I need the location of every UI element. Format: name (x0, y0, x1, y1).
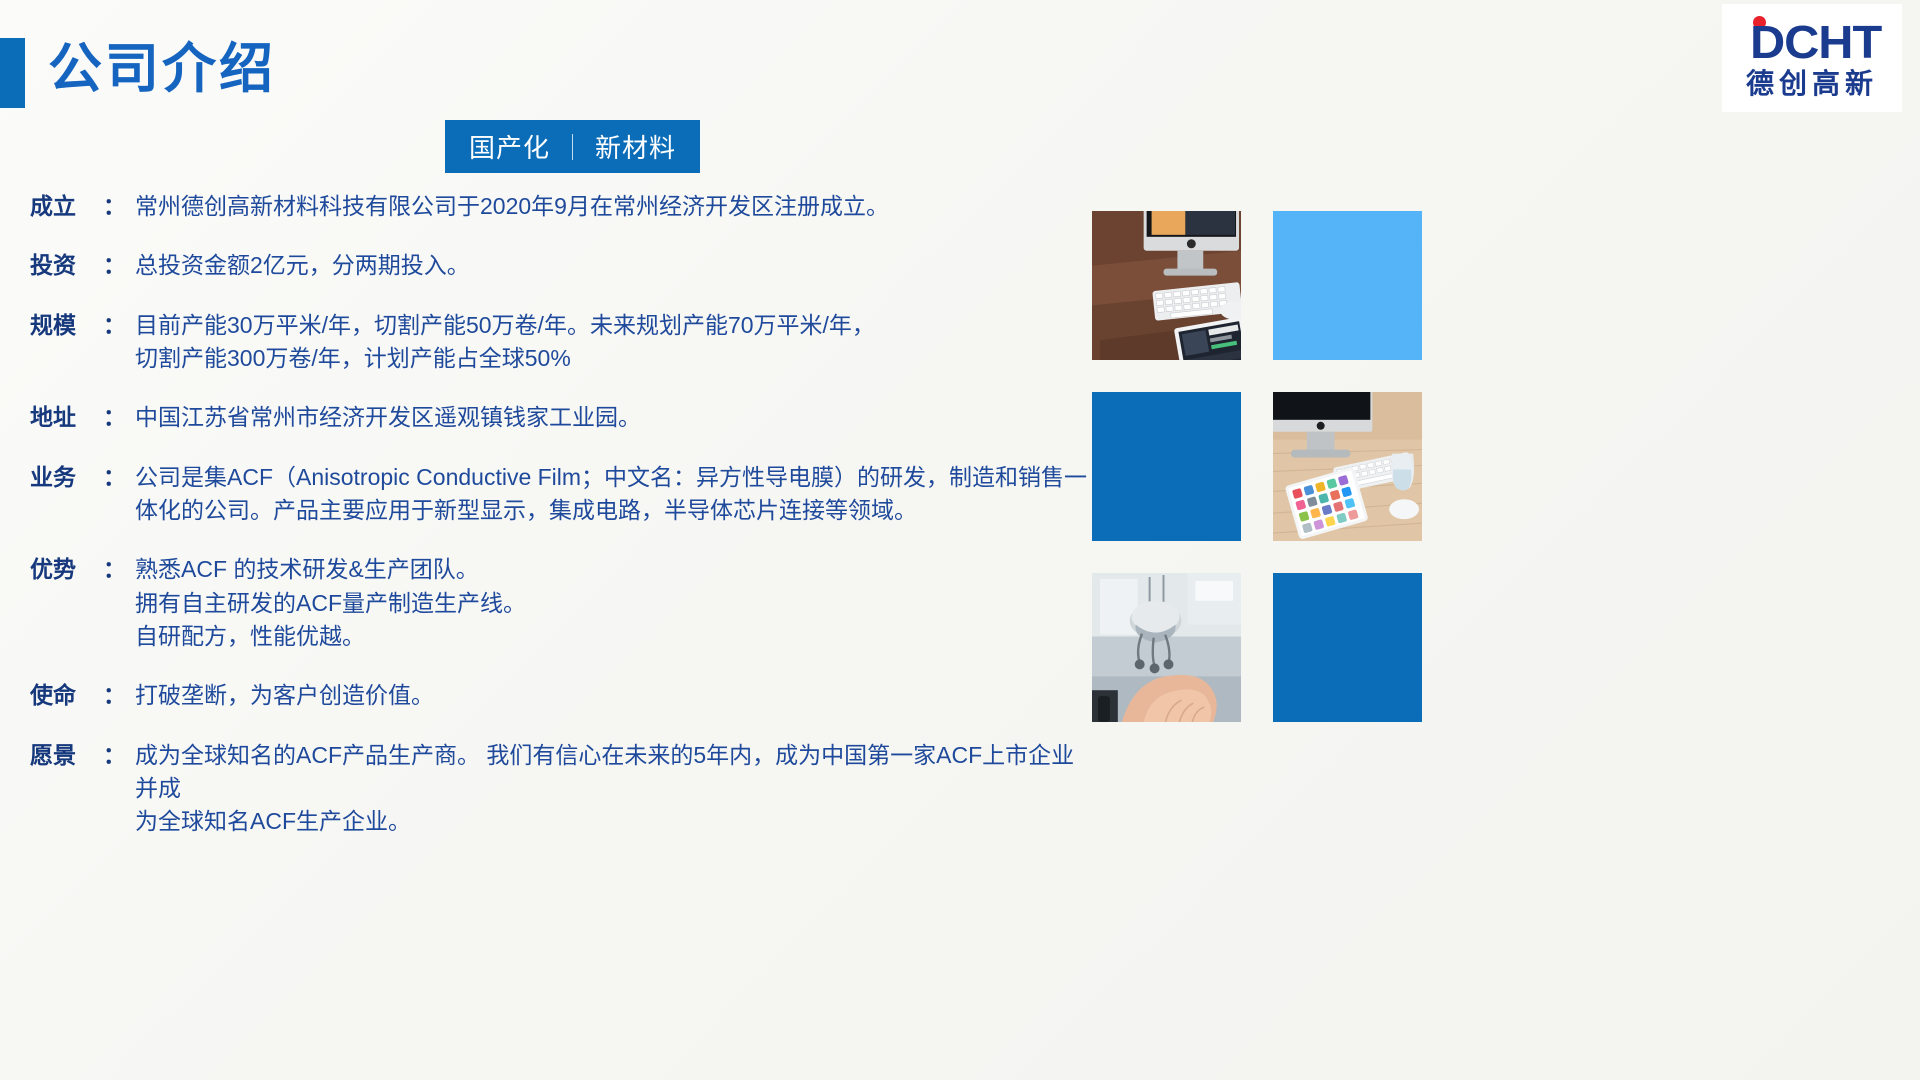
info-row-body: 成为全球知名的ACF产品生产商。 我们有信心在未来的5年内，成为中国第一家ACF… (128, 739, 1090, 839)
header-accent-bar (0, 38, 25, 108)
content-list: 成立：常州德创高新材料科技有限公司于2020年9月在常州经济开发区注册成立。投资… (30, 190, 1090, 865)
info-row: 优势：熟悉ACF 的技术研发&生产团队。拥有自主研发的ACF量产制造生产线。自研… (30, 553, 1090, 653)
logo-wordmark: DCHT (1750, 19, 1874, 65)
info-row-body: 打破垄断，为客户创造价值。 (128, 679, 1090, 712)
imac-desk-photo (1092, 211, 1241, 360)
info-row-colon: ： (103, 553, 126, 653)
info-row-colon: ： (103, 679, 126, 712)
blue-block-left (1092, 392, 1241, 541)
info-row-line: 常州德创高新材料科技有限公司于2020年9月在常州经济开发区注册成立。 (135, 190, 1090, 223)
info-row-body: 常州德创高新材料科技有限公司于2020年9月在常州经济开发区注册成立。 (128, 190, 1090, 223)
info-row-body: 熟悉ACF 的技术研发&生产团队。拥有自主研发的ACF量产制造生产线。自研配方，… (128, 553, 1090, 653)
info-row: 地址：中国江苏省常州市经济开发区遥观镇钱家工业园。 (30, 401, 1090, 434)
info-row-body: 总投资金额2亿元，分两期投入。 (128, 249, 1090, 282)
info-row-body: 目前产能30万平米/年，切割产能50万卷/年。未来规划产能70万平米/年，切割产… (128, 309, 1090, 376)
robot-hand-photo (1092, 573, 1241, 722)
info-row-line: 熟悉ACF 的技术研发&生产团队。 (135, 553, 1090, 586)
info-row-colon: ： (103, 739, 126, 839)
logo-chinese-name: 德创高新 (1746, 68, 1878, 100)
tagline-separator (572, 134, 573, 160)
company-logo: DCHT 德创高新 (1722, 4, 1902, 112)
info-row-label: 优势 (30, 553, 102, 653)
info-row: 成立：常州德创高新材料科技有限公司于2020年9月在常州经济开发区注册成立。 (30, 190, 1090, 223)
info-row-line: 拥有自主研发的ACF量产制造生产线。 (135, 587, 1090, 620)
info-row-line: 中国江苏省常州市经济开发区遥观镇钱家工业园。 (135, 401, 1090, 434)
info-row: 使命：打破垄断，为客户创造价值。 (30, 679, 1090, 712)
logo-letters: DCHT (1750, 19, 1881, 65)
info-row-line: 目前产能30万平米/年，切割产能50万卷/年。未来规划产能70万平米/年， (135, 309, 1090, 342)
info-row-label: 地址 (30, 401, 102, 434)
info-row-label: 规模 (30, 309, 102, 376)
info-row: 业务：公司是集ACF（Anisotropic Conductive Film；中… (30, 461, 1090, 528)
imac-tablet-photo (1273, 392, 1422, 541)
info-row: 投资：总投资金额2亿元，分两期投入。 (30, 249, 1090, 282)
info-row-line: 总投资金额2亿元，分两期投入。 (135, 249, 1090, 282)
info-row-colon: ： (103, 190, 126, 223)
light-blue-block (1273, 211, 1422, 360)
info-row-label: 投资 (30, 249, 102, 282)
info-row-colon: ： (103, 309, 126, 376)
tagline-right: 新材料 (595, 128, 676, 165)
info-row-label: 成立 (30, 190, 102, 223)
info-row-line: 体化的公司。产品主要应用于新型显示，集成电路，半导体芯片连接等领域。 (135, 494, 1090, 527)
info-row-colon: ： (103, 401, 126, 434)
info-row-line: 自研配方，性能优越。 (135, 620, 1090, 653)
info-row-line: 成为全球知名的ACF产品生产商。 我们有信心在未来的5年内，成为中国第一家ACF… (135, 739, 1090, 806)
tagline-left: 国产化 (469, 128, 550, 165)
page-title: 公司介绍 (48, 36, 276, 104)
info-row-colon: ： (103, 249, 126, 282)
blue-block-right (1273, 573, 1422, 722)
info-row-label: 使命 (30, 679, 102, 712)
info-row-colon: ： (103, 461, 126, 528)
info-row-line: 打破垄断，为客户创造价值。 (135, 679, 1090, 712)
info-row: 规模：目前产能30万平米/年，切割产能50万卷/年。未来规划产能70万平米/年，… (30, 309, 1090, 376)
info-row-line: 公司是集ACF（Anisotropic Conductive Film；中文名：… (135, 461, 1090, 494)
info-row-body: 中国江苏省常州市经济开发区遥观镇钱家工业园。 (128, 401, 1090, 434)
info-row-line: 为全球知名ACF生产企业。 (135, 805, 1090, 838)
info-row-label: 业务 (30, 461, 102, 528)
info-row-line: 切割产能300万卷/年，计划产能占全球50% (135, 342, 1090, 375)
info-row-body: 公司是集ACF（Anisotropic Conductive Film；中文名：… (128, 461, 1090, 528)
info-row-label: 愿景 (30, 739, 102, 839)
tagline-banner: 国产化 新材料 (445, 120, 700, 173)
info-row: 愿景：成为全球知名的ACF产品生产商。 我们有信心在未来的5年内，成为中国第一家… (30, 739, 1090, 839)
image-grid (1092, 211, 1422, 721)
